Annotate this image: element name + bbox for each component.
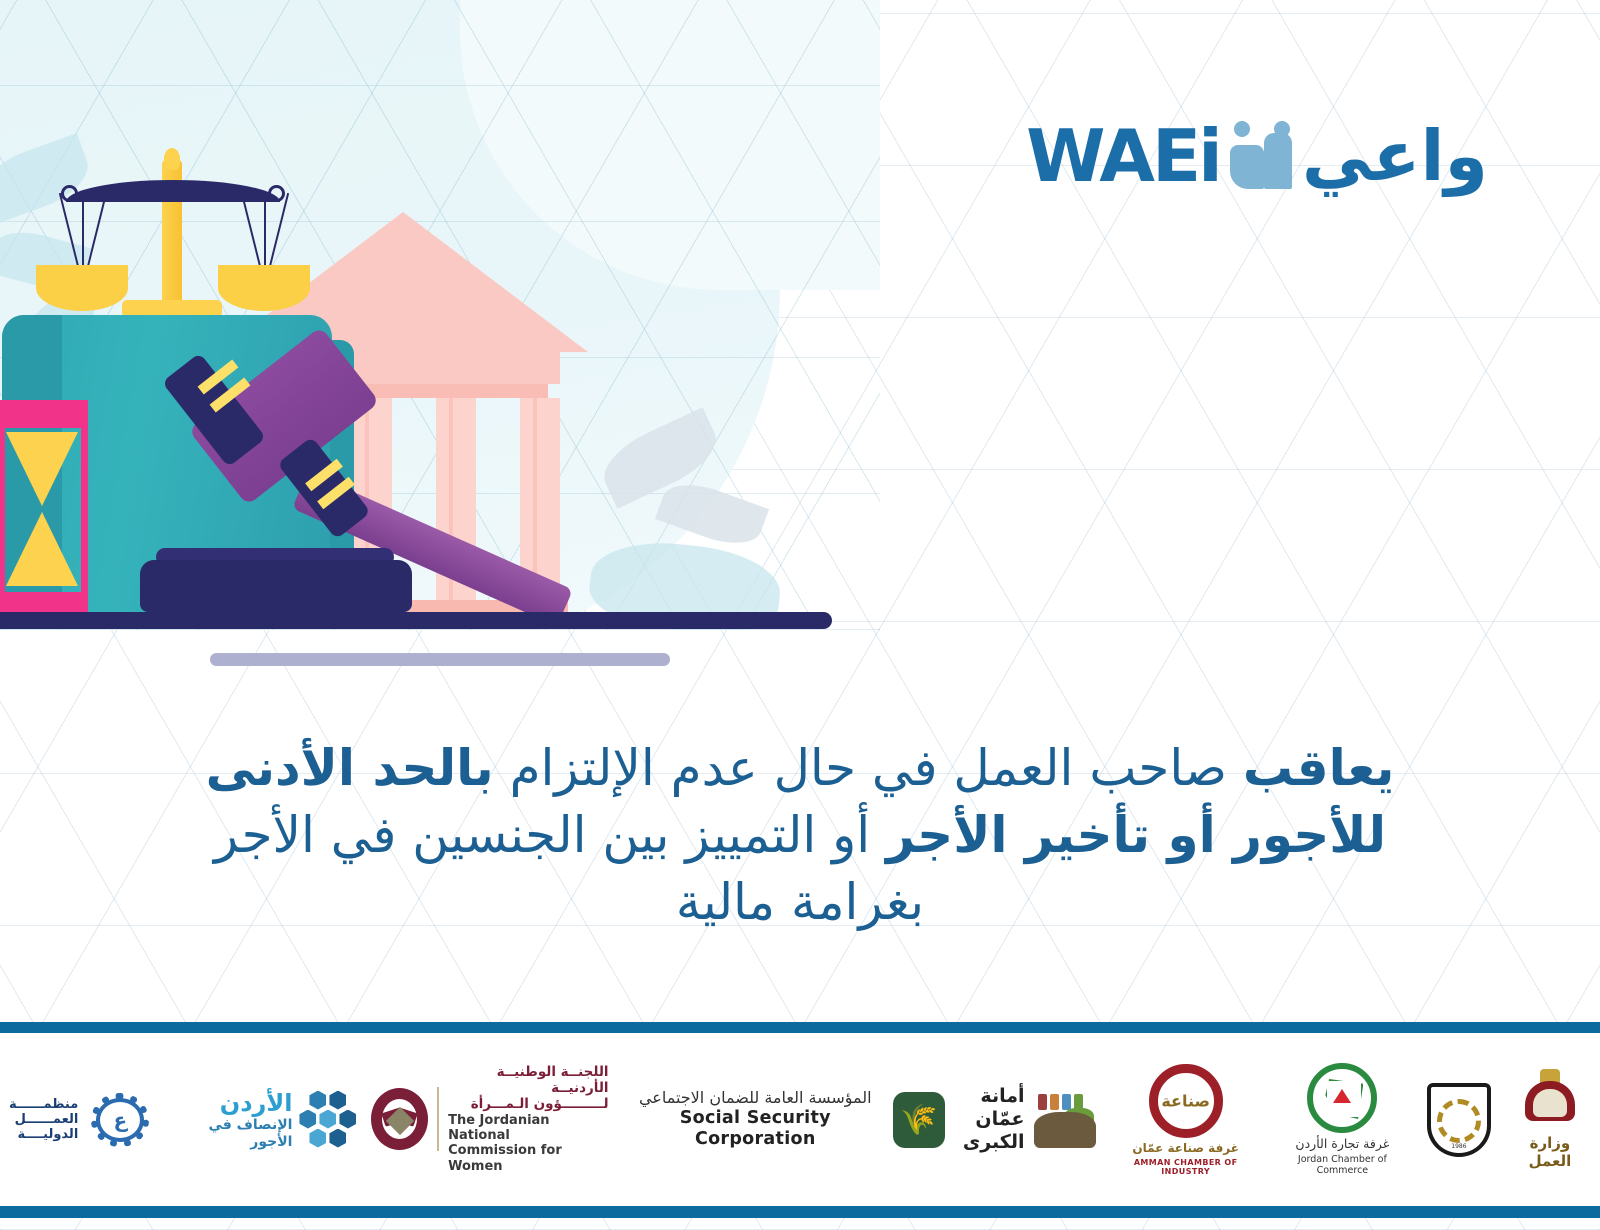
footer-rule-top	[0, 1022, 1600, 1033]
headline-segment: يعاقب	[1243, 739, 1394, 797]
logo-social-security-corporation[interactable]: المؤسسة العامة للضمان الاجتماعي Social S…	[618, 1089, 954, 1149]
people-speech-bubble-icon	[1228, 121, 1294, 191]
jcc-map-seal-icon	[1307, 1063, 1377, 1133]
scales-pan-right-icon	[218, 265, 310, 311]
partner-logo-strip: منظمــــــة العمــــــل الدوليــــة ع ال…	[0, 1033, 1600, 1206]
wheat-mark-icon: 🌾	[893, 1092, 945, 1148]
aci-english-title: AMMAN CHAMBER OF INDUSTRY	[1114, 1158, 1258, 1176]
brand-logo[interactable]: واعي WAEi	[1026, 120, 1488, 192]
ssc-text: المؤسسة العامة للضمان الاجتماعي Social S…	[627, 1089, 884, 1149]
jncw-emblem-icon	[371, 1088, 428, 1150]
logo-ministry-of-labour[interactable]: وزارة العمل	[1500, 1069, 1600, 1170]
logo-greater-amman-municipality[interactable]: أمانة عمّان الكبرى	[954, 1085, 1105, 1155]
ilo-arabic-text: منظمــــــة العمــــــل الدوليــــة	[9, 1097, 78, 1143]
headline-segment: صاحب العمل في حال عدم الإلتزام	[494, 739, 1243, 797]
scales-knob	[164, 148, 180, 170]
shield-gear-icon: 1986	[1427, 1083, 1491, 1157]
hourglass-sand-top	[6, 432, 78, 506]
hourglass-cap-top-icon	[0, 400, 88, 428]
logo-separator	[437, 1087, 439, 1151]
hourglass-frame	[0, 400, 5, 620]
headline-line-2: للأجور أو تأخير الأجر أو التمييز بين الج…	[60, 802, 1540, 869]
mol-arabic-title: وزارة العمل	[1509, 1134, 1591, 1170]
logo-jordan-chamber-of-industry[interactable]: 1986	[1418, 1083, 1500, 1157]
jcc-arabic-title: غرفة تجارة الأردن	[1295, 1136, 1389, 1151]
aci-arabic-title: غرفة صناعة عمّان	[1132, 1141, 1239, 1155]
jfp-text: الأردن الإنصاف في الأجور	[171, 1089, 292, 1150]
jci-year: 1986	[1451, 1143, 1466, 1150]
headline-line-1: يعاقب صاحب العمل في حال عدم الإلتزام بال…	[60, 735, 1540, 802]
poster-canvas: واعي WAEi يعاقب صاحب العمل في حال عدم ال…	[0, 0, 1600, 1230]
amman-skyline-icon	[1034, 1090, 1096, 1148]
headline-line-3: بغرامة مالية	[60, 869, 1540, 936]
hexagon-cluster-icon	[299, 1091, 353, 1149]
headline-segment: بغرامة مالية	[676, 873, 924, 931]
logo-jordan-chamber-of-commerce[interactable]: غرفة تجارة الأردن Jordan Chamber of Comm…	[1267, 1063, 1418, 1176]
justice-illustration	[0, 0, 880, 630]
page-headline: يعاقب صاحب العمل في حال عدم الإلتزام بال…	[60, 735, 1540, 936]
logo-jordan-fair-pay[interactable]: الأردن الإنصاف في الأجور	[162, 1089, 362, 1150]
scales-string	[82, 192, 84, 268]
ilo-emblem-icon: ع	[87, 1089, 153, 1151]
gavel-sound-block-icon	[140, 560, 412, 612]
logo-jncw[interactable]: اللجنــة الوطنيــة الأردنيــة لـــــــــ…	[362, 1065, 617, 1174]
brand-name-latin: WAEi	[1026, 120, 1220, 192]
hourglass-sand-bottom	[6, 512, 78, 586]
aci-seal-icon: صناعة	[1149, 1064, 1223, 1138]
brand-name-arabic: واعي	[1302, 121, 1488, 191]
headline-segment: للأجور أو تأخير الأجر	[886, 806, 1386, 864]
logo-ilo[interactable]: منظمــــــة العمــــــل الدوليــــة ع	[0, 1089, 162, 1151]
divider-pill	[210, 653, 670, 666]
headline-segment: بالحد الأدنى	[206, 739, 494, 797]
footer-rule-bottom	[0, 1206, 1600, 1218]
jordan-crest-icon	[1521, 1069, 1579, 1131]
hourglass-frame	[81, 400, 88, 620]
jncw-text: اللجنــة الوطنيــة الأردنيــة لـــــــــ…	[448, 1065, 608, 1174]
scales-string	[264, 192, 266, 268]
logo-amman-chamber-of-industry[interactable]: صناعة غرفة صناعة عمّان AMMAN CHAMBER OF …	[1105, 1064, 1267, 1176]
gam-text: أمانة عمّان الكبرى	[963, 1085, 1025, 1155]
scales-pan-left-icon	[36, 265, 128, 311]
illustration-ground-bar	[0, 612, 832, 629]
jcc-english-title: Jordan Chamber of Commerce	[1276, 1154, 1409, 1176]
headline-segment: أو التمييز بين الجنسين في الأجر	[214, 806, 886, 864]
